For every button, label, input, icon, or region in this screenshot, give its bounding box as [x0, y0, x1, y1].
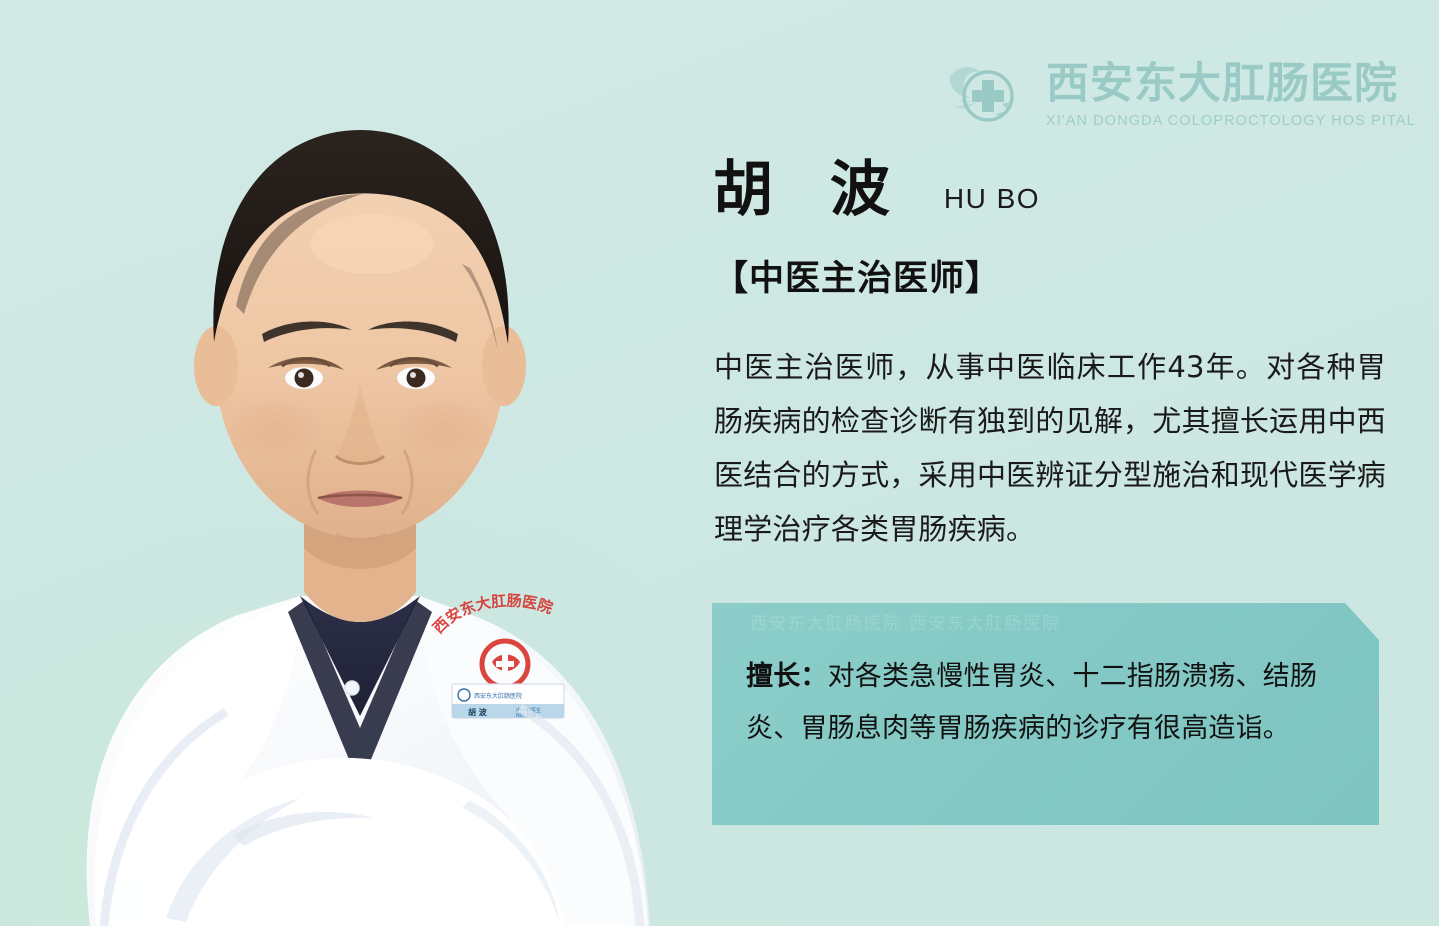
specialty-label: 擅长： — [746, 661, 828, 692]
doctor-photo: 西安东大肛肠医院 西安东大肛肠医院 胡 波 中一科医生 NO. 026 — [0, 56, 700, 926]
doctor-bio: 中医主治医师，从事中医临床工作43年。对各种胃肠疾病的检查诊断有独到的见解，尤其… — [714, 340, 1386, 556]
specialty-body: 对各类急慢性胃炎、十二指肠溃疡、结肠炎、胃肠息肉等胃肠疾病的诊疗有很高造诣。 — [746, 661, 1317, 744]
svg-text:胡 波: 胡 波 — [468, 707, 488, 717]
doctor-profile-card: 西安东大肛肠医院 XI'AN DONGDA COLOPROCTOLOGY HOS… — [0, 0, 1439, 926]
specialty-box: 西安东大肛肠医院 西安东大肛肠医院 擅长：对各类急慢性胃炎、十二指肠溃疡、结肠炎… — [712, 603, 1379, 825]
doctor-name-cn: 胡 波 — [713, 160, 908, 220]
specialty-watermark: 西安东大肛肠医院 西安东大肛肠医院 — [750, 609, 1359, 639]
doctor-title: 【中医主治医师】 — [713, 258, 1001, 300]
specialty-text: 擅长：对各类急慢性胃炎、十二指肠溃疡、结肠炎、胃肠息肉等胃肠疾病的诊疗有很高造诣… — [746, 651, 1353, 755]
doctor-name-row: 胡 波 HU BO — [713, 160, 1040, 220]
doctor-name-en: HU BO — [944, 185, 1040, 220]
svg-text:西安东大肛肠医院: 西安东大肛肠医院 — [474, 692, 522, 700]
